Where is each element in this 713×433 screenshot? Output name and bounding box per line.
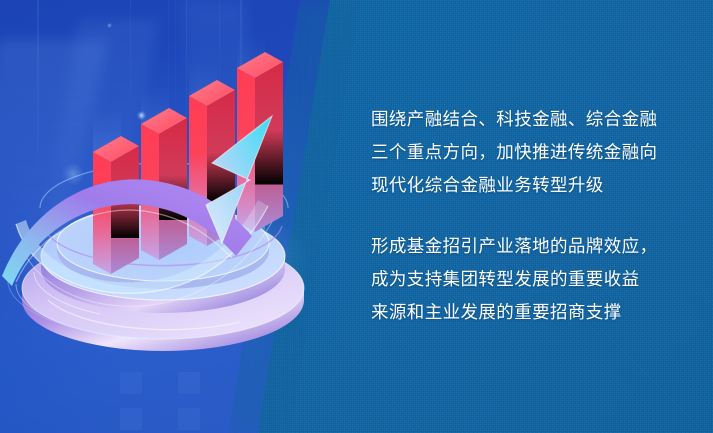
paragraph-2-line-3: 来源和主业发展的重要招商支撑 xyxy=(371,297,681,330)
paragraph-1-line-3: 现代化综合金融业务转型升级 xyxy=(371,170,681,203)
paragraph-2-line-2: 成为支持集团转型发展的重要收益 xyxy=(371,264,681,297)
paragraph-1-line-1: 围绕产融结合、科技金融、综合金融 xyxy=(371,104,681,137)
paragraph-2-line-1: 形成基金招引产业落地的品牌效应， xyxy=(371,231,681,264)
paragraph-1: 围绕产融结合、科技金融、综合金融 三个重点方向，加快推进传统金融向 现代化综合金… xyxy=(371,104,681,203)
paragraph-1-line-2: 三个重点方向，加快推进传统金融向 xyxy=(371,137,681,170)
paragraph-2: 形成基金招引产业落地的品牌效应， 成为支持集团转型发展的重要收益 来源和主业发展… xyxy=(371,231,681,330)
growth-chart-illustration xyxy=(0,0,340,433)
text-content-panel: 围绕产融结合、科技金融、综合金融 三个重点方向，加快推进传统金融向 现代化综合金… xyxy=(371,104,681,330)
promo-banner: 围绕产融结合、科技金融、综合金融 三个重点方向，加快推进传统金融向 现代化综合金… xyxy=(0,0,713,433)
